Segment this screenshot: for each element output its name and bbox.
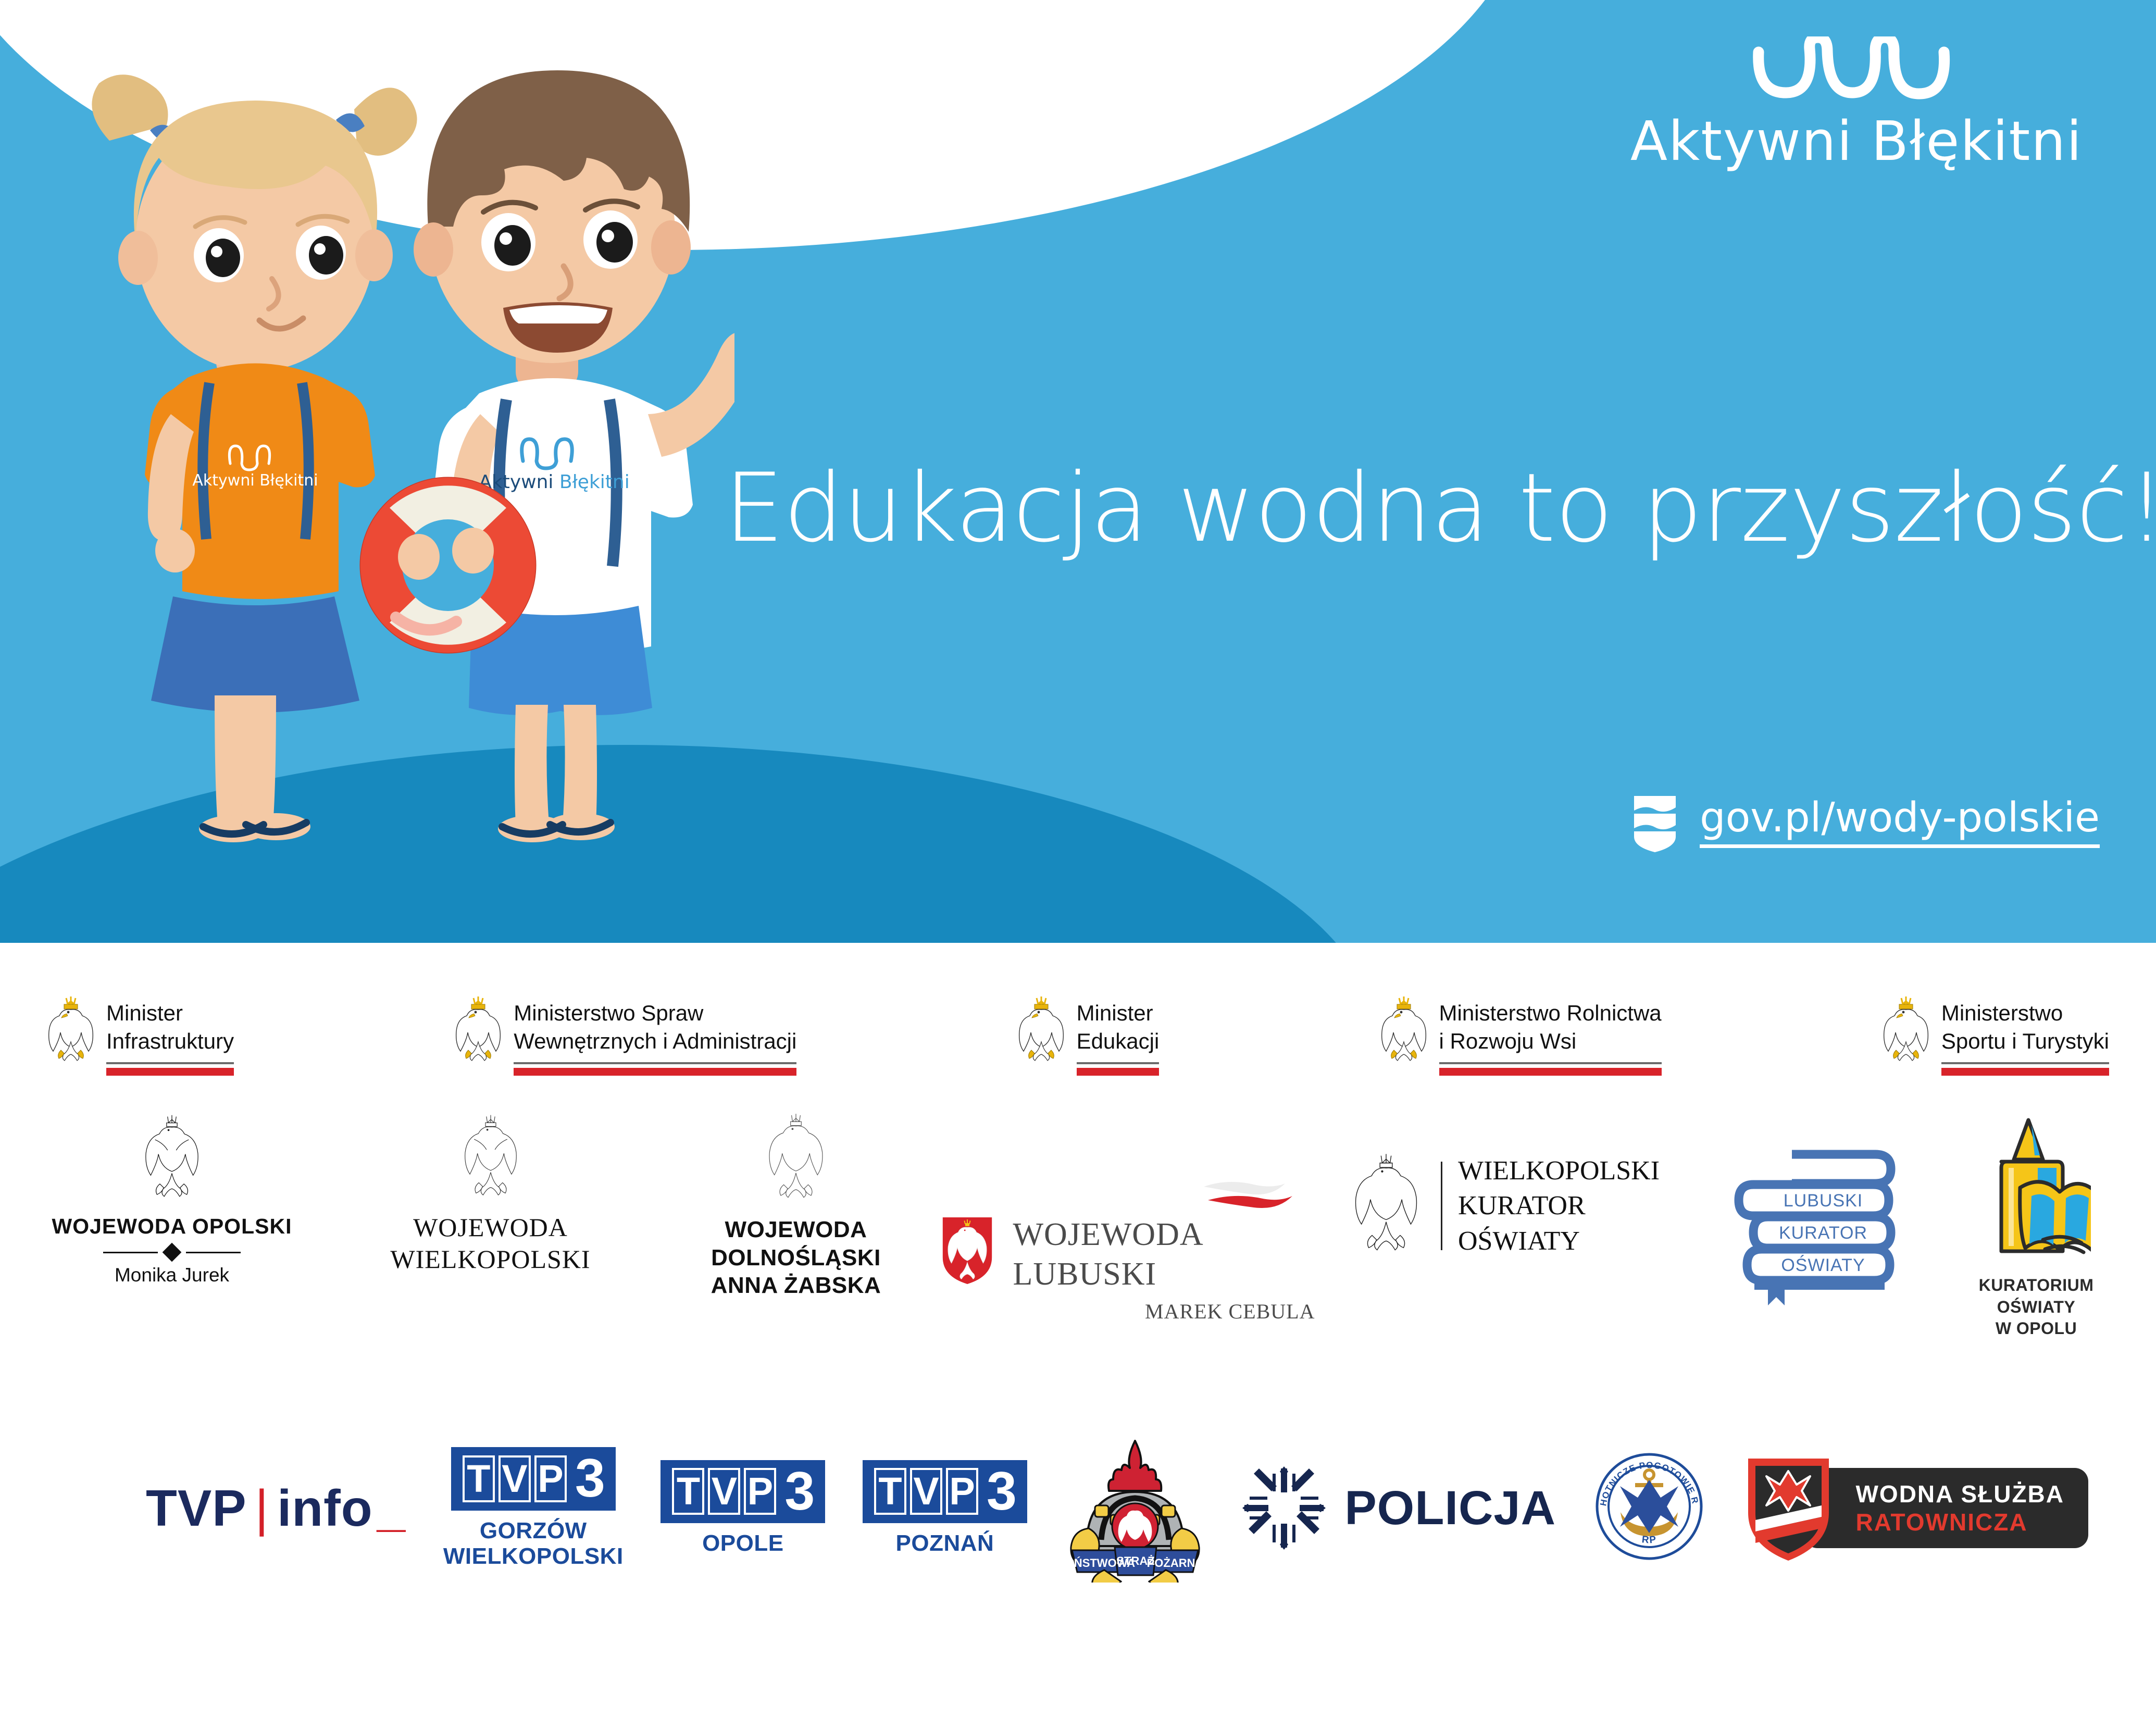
ministry-name: Ministerstwo Sportu i Turystyki <box>1941 999 2109 1055</box>
polish-flag-rule <box>1077 1062 1160 1076</box>
tower-and-book-icon <box>1981 1110 2091 1266</box>
tvp3-number: 3 <box>575 1454 605 1503</box>
polish-eagle-emblem-icon <box>454 995 502 1065</box>
tvp3-letter-v: V <box>910 1468 942 1515</box>
voivode-name: Monika Jurek <box>47 1264 297 1286</box>
logo-minister-edukacji: Minister Edukacji <box>1017 995 1160 1076</box>
logo-wopr: WODNE OCHOTNICZE POGOTOWIE RATUNKOWE RP <box>1593 1451 1705 1565</box>
wsr-plate: WODNA SŁUŻBA RATOWNICZA <box>1804 1468 2088 1549</box>
tvp3-city: GORZÓW WIELKOPOLSKI <box>443 1518 624 1569</box>
info-underscore: _ <box>377 1479 406 1538</box>
govpl-url[interactable]: gov.pl/wody-polskie <box>1700 798 2100 848</box>
lifebuoy <box>360 478 535 653</box>
lubuski-line2: KURATOR <box>1778 1223 1867 1243</box>
diamond-divider <box>47 1245 297 1259</box>
tvp3-letter-p: P <box>744 1468 776 1515</box>
voivode-title: WOJEWODA DOLNOŚLĄSKI ANNA ŻABSKA <box>684 1216 908 1300</box>
svg-text:Aktywni Błękitni: Aktywni Błękitni <box>479 471 629 493</box>
polish-flag-rule <box>1941 1062 2109 1076</box>
polish-eagle-emblem-icon <box>1017 995 1065 1065</box>
partners-section: Minister Infrastruktury Ministerstwo Spr… <box>0 943 2156 1719</box>
svg-text:RP: RP <box>1641 1534 1657 1546</box>
svg-text:Aktywni Błękitni: Aktywni Błękitni <box>192 471 318 490</box>
logo-ministerstwo-sportu: Ministerstwo Sportu i Turystyki <box>1882 995 2109 1076</box>
hero-banner: Aktywni Błękitni <box>0 0 2156 943</box>
wave-squiggle-icon <box>1747 36 1966 104</box>
logo-wielkopolski-kurator-oswiaty: WIELKOPOLSKI KURATOR OŚWIATY <box>1347 1110 1691 1261</box>
brand-name: Aktywni Błękitni <box>1614 109 2099 173</box>
polish-eagle-emblem-icon <box>47 995 95 1065</box>
govpl-shield-icon <box>1631 792 1679 853</box>
wsr-shield-icon <box>1743 1452 1834 1564</box>
page-title: Edukacja wodna to przyszłość! <box>724 458 2099 558</box>
tvp3-number: 3 <box>784 1467 815 1516</box>
voivode-title: WOJEWODA OPOLSKI <box>47 1213 297 1239</box>
polish-eagle-red-shield-icon <box>940 1207 994 1294</box>
tvp3-letter-t: T <box>672 1468 704 1515</box>
psp-ribbon-right: POŻARNA <box>1146 1556 1203 1569</box>
ministry-name: Ministerstwo Spraw Wewnętrznych i Admini… <box>514 999 796 1055</box>
lubuski-line3: OŚWIATY <box>1781 1255 1865 1275</box>
voivode-title: WOJEWODA LUBUSKI <box>1013 1215 1315 1294</box>
tvp3-box: T V P 3 <box>451 1447 616 1511</box>
logo-policja: POLICJA <box>1242 1466 1556 1550</box>
voivodes-row: WOJEWODA OPOLSKI Monika Jurek WOJEWODA W… <box>47 1099 2109 1380</box>
logo-tvp3-poznan: T V P 3 POZNAŃ <box>863 1460 1027 1556</box>
policja-label: POLICJA <box>1344 1481 1556 1536</box>
ministry-name: Minister Infrastruktury <box>106 999 234 1055</box>
tvp3-box: T V P 3 <box>660 1460 825 1524</box>
kurator-title: WIELKOPOLSKI KURATOR OŚWIATY <box>1458 1153 1660 1259</box>
lubuski-wings-icon <box>1201 1177 1315 1212</box>
logo-wojewoda-wielkopolski: WOJEWODA WIELKOPOLSKI <box>329 1110 652 1275</box>
logo-panstwowa-straz-pozarna: PAŃSTWOWA STRAŻ POŻARNA <box>1065 1431 1205 1585</box>
logo-kuratorium-oswiaty-w-opolu: KURATORIUM OŚWIATY W OPOLU <box>1963 1110 2109 1340</box>
polish-eagle-emblem-icon <box>1380 995 1428 1065</box>
logo-mswia: Ministerstwo Spraw Wewnętrznych i Admini… <box>454 995 796 1076</box>
tvp3-letter-t: T <box>874 1468 906 1515</box>
tvp-separator: | <box>255 1479 269 1538</box>
polish-eagle-outline-icon <box>141 1110 203 1206</box>
govpl-link[interactable]: gov.pl/wody-polskie <box>1631 792 2100 853</box>
tvp-word: TVP <box>146 1479 247 1538</box>
ministries-row: Minister Infrastruktury Ministerstwo Spr… <box>47 943 2109 1099</box>
ministry-name: Minister Edukacji <box>1077 999 1160 1055</box>
media-services-row: TVP | info _ T V P 3 GORZÓW WIELKOPOLSKI… <box>47 1380 2109 1599</box>
tvp3-city: POZNAŃ <box>863 1530 1027 1556</box>
logo-wodna-sluzba-ratownicza: WODNA SŁUŻBA RATOWNICZA <box>1743 1452 2088 1564</box>
children-illustration: Aktywni Błękitni <box>31 18 734 846</box>
polish-flag-rule <box>106 1062 234 1076</box>
tvp3-letters: T V P <box>463 1455 567 1502</box>
tvp3-city: OPOLE <box>660 1530 825 1556</box>
kuratorium-opole-label: KURATORIUM OŚWIATY W OPOLU <box>1963 1275 2109 1340</box>
stacked-books-icon: LUBUSKI KURATOR OŚWIATY <box>1734 1141 1921 1313</box>
logo-wojewoda-dolnoslaski: WOJEWODA DOLNOŚLĄSKI ANNA ŻABSKA <box>684 1110 908 1300</box>
wopr-seal-icon: WODNE OCHOTNICZE POGOTOWIE RATUNKOWE RP <box>1593 1451 1705 1563</box>
tvp3-number: 3 <box>987 1467 1017 1516</box>
logo-lubuski-kurator-oswiaty: LUBUSKI KURATOR OŚWIATY <box>1723 1110 1931 1315</box>
info-word: info <box>277 1479 373 1538</box>
tvp3-letter-p: P <box>946 1468 978 1515</box>
logo-wojewoda-opolski: WOJEWODA OPOLSKI Monika Jurek <box>47 1110 297 1286</box>
logo-tvp3-gorzow: T V P 3 GORZÓW WIELKOPOLSKI <box>443 1447 624 1569</box>
wopr-ring-bottom: RP <box>1641 1534 1657 1546</box>
lubuski-line1: LUBUSKI <box>1783 1191 1863 1211</box>
logo-ministerstwo-rolnictwa: Ministerstwo Rolnictwa i Rozwoju Wsi <box>1380 995 1662 1076</box>
logo-tvp3-opole: T V P 3 OPOLE <box>660 1460 825 1556</box>
voivode-title: WOJEWODA WIELKOPOLSKI <box>329 1212 652 1275</box>
tvp3-letter-t: T <box>463 1455 495 1502</box>
tvp3-letter-p: P <box>534 1455 567 1502</box>
tvp3-box: T V P 3 <box>863 1460 1027 1524</box>
fire-brigade-emblem-icon: PAŃSTWOWA STRAŻ POŻARNA <box>1065 1431 1205 1583</box>
logo-minister-infrastruktury: Minister Infrastruktury <box>47 995 234 1076</box>
tvp3-letter-v: V <box>499 1455 531 1502</box>
logo-wojewoda-lubuski: WOJEWODA LUBUSKI MAREK CEBULA <box>940 1110 1315 1324</box>
tvp3-letters: T V P <box>874 1468 978 1515</box>
police-star-icon <box>1242 1466 1326 1550</box>
tvp3-letter-v: V <box>708 1468 740 1515</box>
polish-flag-rule <box>514 1062 796 1076</box>
aktywni-blekitni-logo: Aktywni Błękitni <box>1614 36 2099 173</box>
polish-eagle-outline-icon <box>460 1110 521 1204</box>
voivode-name: MAREK CEBULA <box>1013 1299 1315 1324</box>
polish-eagle-outline-icon <box>764 1110 828 1209</box>
ministry-name: Ministerstwo Rolnictwa i Rozwoju Wsi <box>1439 999 1662 1055</box>
logo-tvp-info: TVP | info _ <box>146 1479 406 1538</box>
wsr-line1: WODNA SŁUŻBA <box>1856 1481 2064 1506</box>
tvp3-letters: T V P <box>672 1468 776 1515</box>
polish-eagle-emblem-icon <box>1882 995 1930 1065</box>
wsr-line2: RATOWNICZA <box>1856 1510 2064 1535</box>
polish-eagle-outline-icon <box>1347 1151 1425 1261</box>
polish-flag-rule <box>1439 1062 1662 1076</box>
